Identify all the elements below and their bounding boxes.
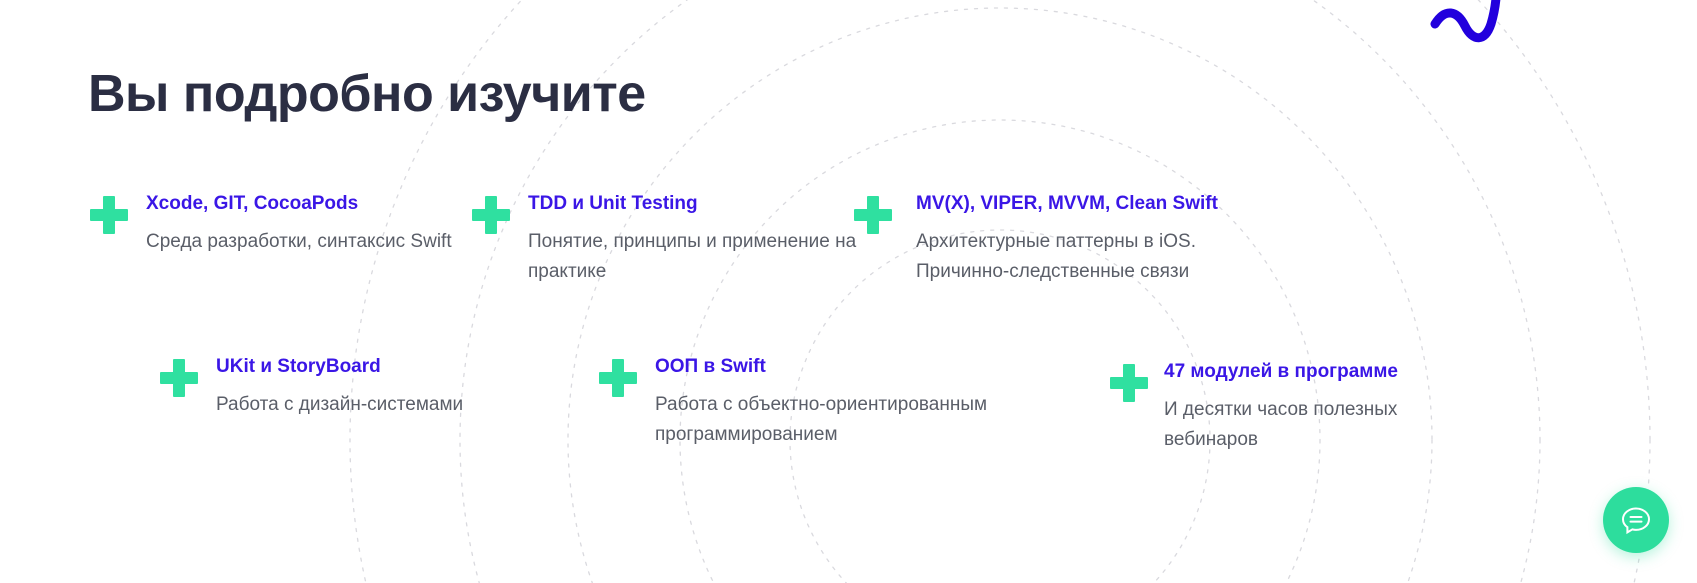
feature-text: MV(X), VIPER, MVVM, Clean Swift Архитект…: [916, 192, 1256, 287]
feature-title: TDD и Unit Testing: [528, 192, 898, 216]
feature-description: Работа с объектно-ориентированным програ…: [655, 390, 1025, 450]
feature-item-ukit: UKit и StoryBoard Работа с дизайн-систем…: [158, 355, 463, 420]
feature-item-modules: 47 модулей в программе И десятки часов п…: [1108, 360, 1422, 455]
plus-icon: [158, 357, 200, 399]
chat-widget-button[interactable]: [1603, 487, 1669, 553]
feature-grid: Xcode, GIT, CocoaPods Среда разработки, …: [0, 0, 1697, 583]
feature-item-xcode: Xcode, GIT, CocoaPods Среда разработки, …: [88, 192, 452, 257]
feature-description: Работа с дизайн-системами: [216, 390, 463, 420]
feature-item-oop: ООП в Swift Работа с объектно-ориентиров…: [597, 355, 1025, 450]
feature-item-architecture: MV(X), VIPER, MVVM, Clean Swift Архитект…: [852, 192, 1256, 287]
feature-description: Архитектурные паттерны в iOS. Причинно-с…: [916, 227, 1256, 287]
chat-bubble-icon: [1619, 503, 1653, 537]
feature-title: Xcode, GIT, CocoaPods: [146, 192, 452, 216]
plus-icon: [852, 194, 894, 236]
feature-text: UKit и StoryBoard Работа с дизайн-систем…: [216, 355, 463, 420]
feature-description: Среда разработки, синтаксис Swift: [146, 227, 452, 257]
feature-title: MV(X), VIPER, MVVM, Clean Swift: [916, 192, 1256, 216]
feature-item-tdd: TDD и Unit Testing Понятие, принципы и п…: [470, 192, 898, 287]
plus-icon: [597, 357, 639, 399]
feature-text: TDD и Unit Testing Понятие, принципы и п…: [528, 192, 898, 287]
plus-icon: [88, 194, 130, 236]
feature-title: UKit и StoryBoard: [216, 355, 463, 379]
plus-icon: [470, 194, 512, 236]
feature-text: 47 модулей в программе И десятки часов п…: [1164, 360, 1422, 455]
feature-text: ООП в Swift Работа с объектно-ориентиров…: [655, 355, 1025, 450]
feature-description: Понятие, принципы и применение на практи…: [528, 227, 898, 287]
landing-section: Вы подробно изучите Xcode, GIT, CocoaPod…: [0, 0, 1697, 583]
feature-description: И десятки часов полезных вебинаров: [1164, 395, 1422, 455]
feature-title: 47 модулей в программе: [1164, 360, 1422, 384]
plus-icon: [1108, 362, 1150, 404]
feature-text: Xcode, GIT, CocoaPods Среда разработки, …: [146, 192, 452, 257]
feature-title: ООП в Swift: [655, 355, 1025, 379]
